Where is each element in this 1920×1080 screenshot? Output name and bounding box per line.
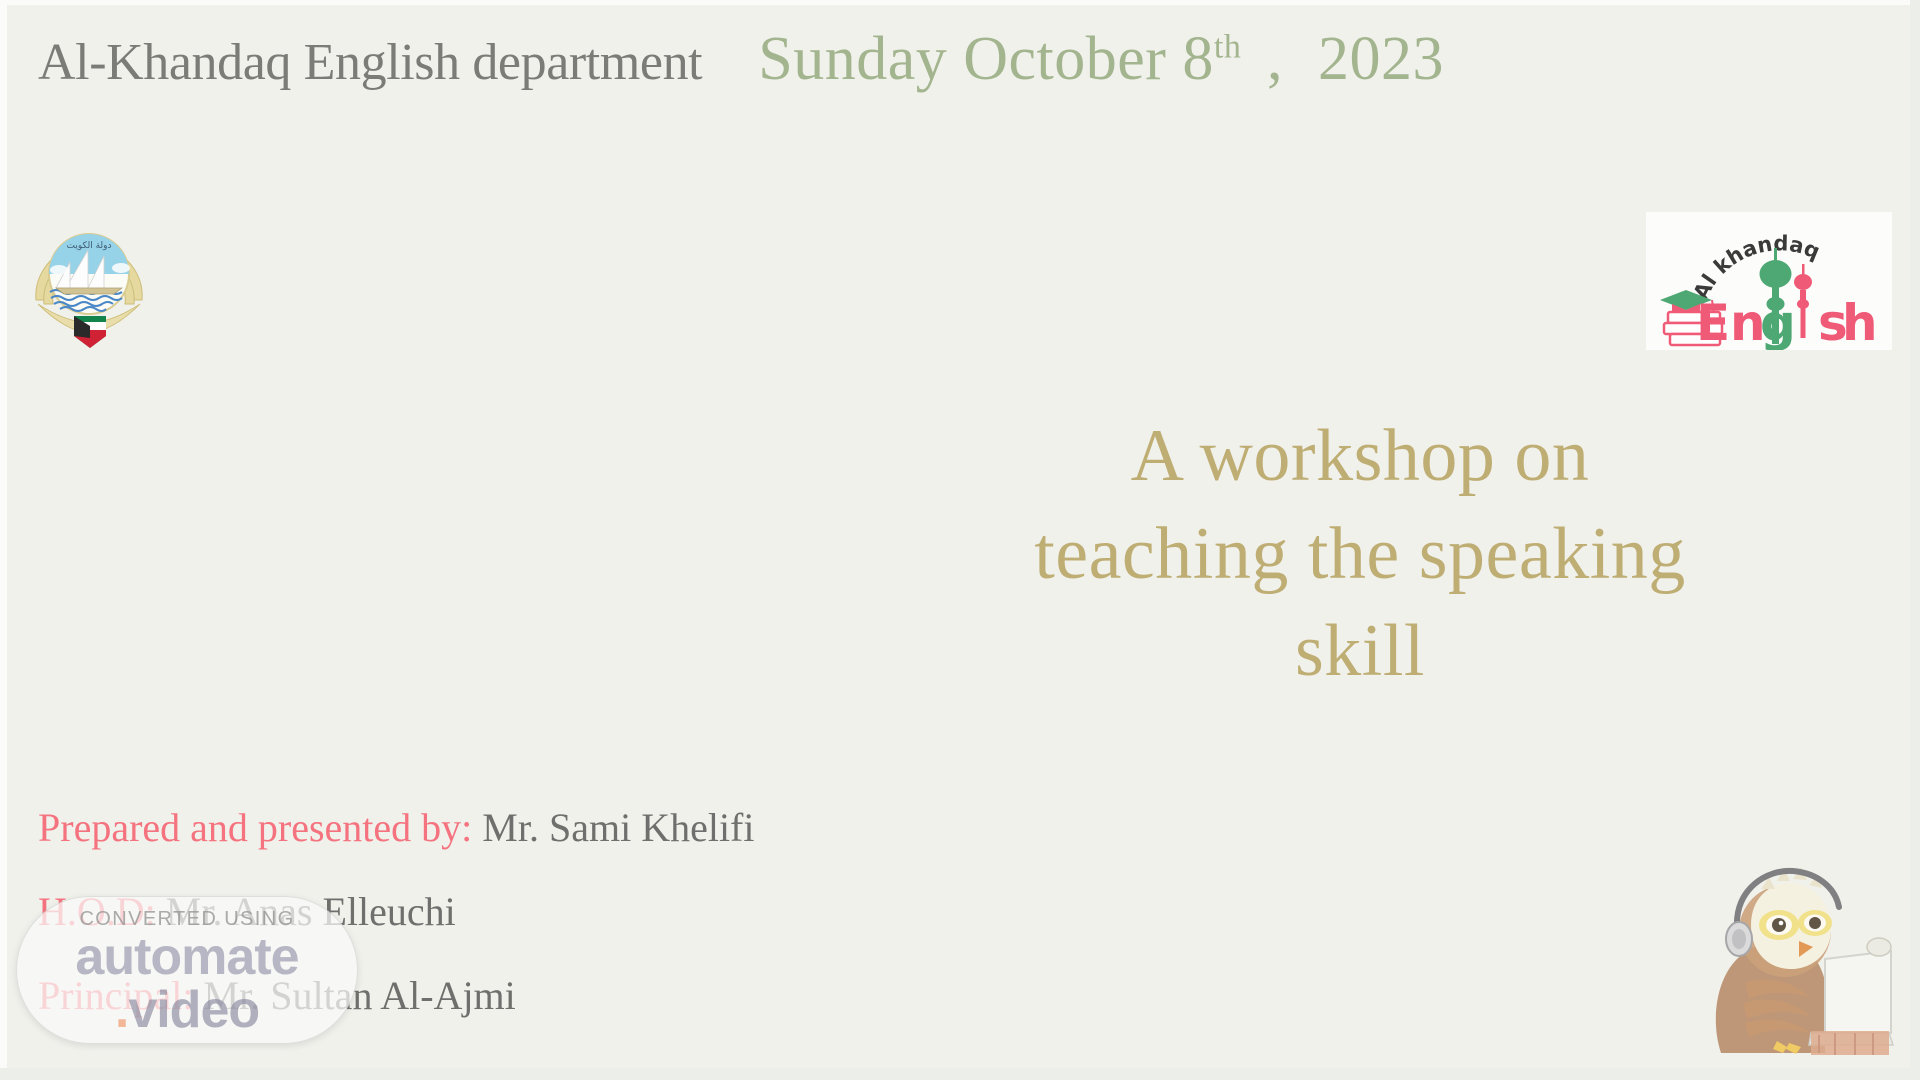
workshop-title-line-1: A workshop on — [900, 408, 1820, 506]
watermark-brand-tld: .video — [17, 983, 357, 1037]
watermark-brand: automate — [17, 931, 357, 983]
slide-edge-right — [1910, 0, 1920, 1080]
slide-date: Sunday October 8th , 2023 — [758, 28, 1444, 90]
al-khandaq-english-logo: Al khandaq — [1646, 212, 1892, 350]
logo-dept-text: Dept — [1768, 303, 1783, 338]
automate-video-watermark[interactable]: CONVERTED USING automate .video — [16, 896, 358, 1044]
credit-label-presenter: Prepared and presented by: — [38, 805, 472, 850]
presentation-slide: Al-Khandaq English department Sunday Oct… — [0, 0, 1920, 1080]
kuwait-state-emblem-icon: دولة الكويت — [26, 212, 152, 352]
workshop-title: A workshop on teaching the speaking skil… — [900, 408, 1820, 701]
logo-word-english: E — [1696, 294, 1730, 350]
slide-edge-bottom — [0, 1068, 1920, 1080]
owl-with-headphones-and-laptop-icon — [1693, 863, 1898, 1058]
credit-line-presenter: Prepared and presented by: Mr. Sami Khel… — [38, 786, 1138, 870]
svg-text:دولة الكويت: دولة الكويت — [67, 241, 112, 251]
date-ordinal-suffix: th — [1214, 28, 1242, 65]
slide-edge-left — [0, 0, 7, 1080]
workshop-title-line-2: teaching the speaking — [900, 506, 1820, 604]
slide-edge-top — [0, 0, 1920, 5]
watermark-dot: . — [115, 981, 128, 1039]
date-year: 2023 — [1318, 25, 1444, 93]
school-department-title: Al-Khandaq English department — [38, 37, 702, 89]
date-main: Sunday October 8 — [758, 25, 1214, 93]
date-separator: , — [1241, 25, 1318, 93]
slide-header: Al-Khandaq English department Sunday Oct… — [0, 28, 1920, 118]
watermark-tld-text: video — [128, 981, 259, 1039]
credit-value-presenter: Mr. Sami Khelifi — [472, 805, 754, 850]
svg-text:h: h — [1842, 294, 1878, 350]
workshop-title-line-3: skill — [900, 603, 1820, 701]
